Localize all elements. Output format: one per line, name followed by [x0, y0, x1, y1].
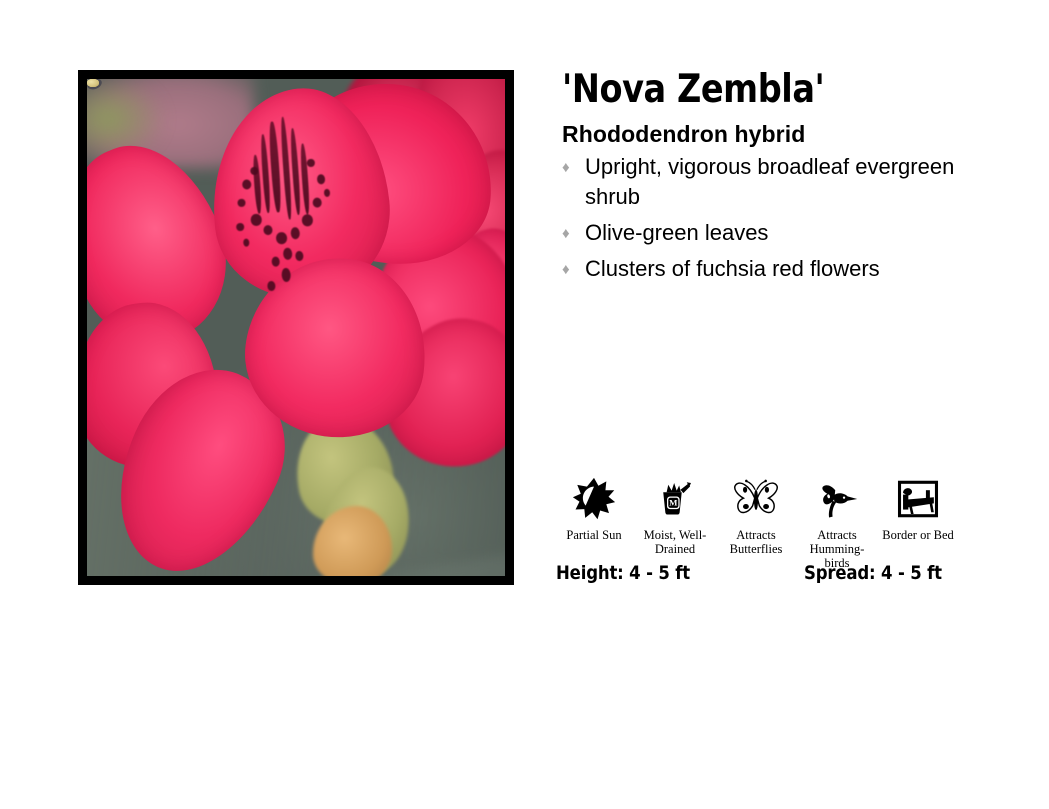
list-item-label: Olive-green leaves: [585, 220, 768, 245]
plant-photo: [87, 79, 505, 576]
attribute-border-or-bed: Border or Bed: [880, 472, 956, 542]
plant-info-column: 'Nova Zembla' Rhododendron hybrid ♦ Upri…: [562, 68, 1032, 290]
partial-sun-icon: [556, 472, 632, 526]
svg-text:M: M: [669, 498, 678, 508]
plant-feature-list: ♦ Upright, vigorous broadleaf evergreen …: [562, 152, 1032, 284]
plant-botanical-name: Rhododendron hybrid: [562, 120, 1032, 148]
height-label: Height: 4 - 5 ft: [556, 562, 690, 584]
spread-label: Spread: 4 - 5 ft: [804, 562, 942, 584]
butterfly-icon: [718, 472, 794, 526]
list-item-label: Upright, vigorous broadleaf evergreen sh…: [585, 154, 954, 209]
attribute-attracts-butterflies: Attracts Butterflies: [718, 472, 794, 556]
watering-can-moist-icon: M: [637, 472, 713, 526]
plant-attribute-icons: Partial Sun M Moist, Well-Drained: [556, 472, 956, 570]
list-item: ♦ Clusters of fuchsia red flowers: [562, 254, 965, 284]
icon-caption: Partial Sun: [556, 528, 632, 542]
icon-caption: Attracts Butterflies: [718, 528, 794, 556]
list-item-label: Clusters of fuchsia red flowers: [585, 256, 880, 281]
attribute-partial-sun: Partial Sun: [556, 472, 632, 542]
diamond-bullet-icon: ♦: [562, 255, 570, 285]
page-title: 'Nova Zembla': [562, 68, 966, 112]
plant-photo-frame: [78, 70, 514, 585]
icon-caption: Border or Bed: [880, 528, 956, 542]
diamond-bullet-icon: ♦: [562, 219, 570, 249]
attribute-moist-well-drained: M Moist, Well-Drained: [637, 472, 713, 556]
hummingbird-icon: [799, 472, 875, 526]
list-item: ♦ Upright, vigorous broadleaf evergreen …: [562, 152, 965, 212]
list-item: ♦ Olive-green leaves: [562, 218, 965, 248]
attribute-attracts-hummingbirds: Attracts Humming-birds: [799, 472, 875, 570]
diamond-bullet-icon: ♦: [562, 153, 570, 183]
icon-caption: Moist, Well-Drained: [637, 528, 713, 556]
border-or-bed-icon: [880, 472, 956, 526]
